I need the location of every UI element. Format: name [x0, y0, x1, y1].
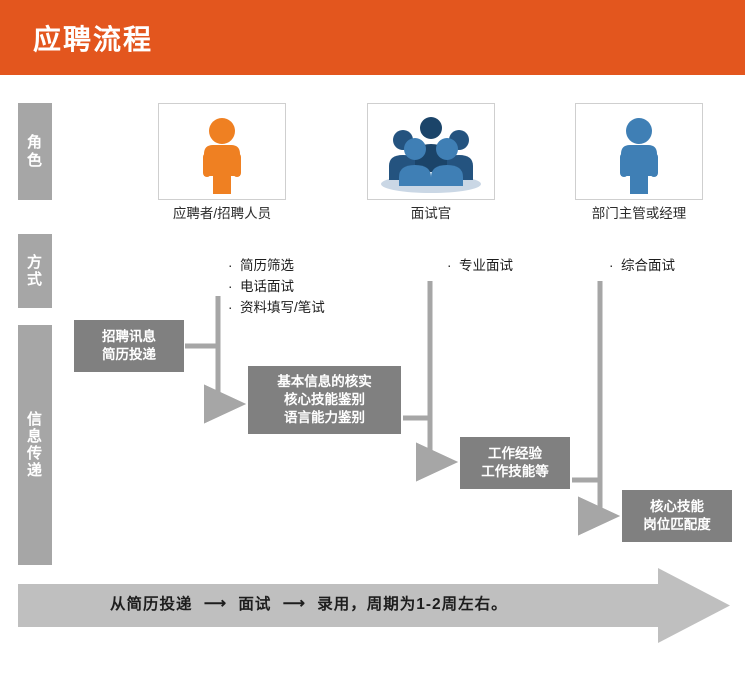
banner-seg-3: 录用，周期为1-2周左右。 [317, 592, 507, 614]
row-label-flow: 信息传递 [18, 325, 52, 565]
process-box-line: 岗位匹配度 [643, 516, 711, 534]
row-label-method: 方式 [18, 234, 52, 308]
role-image-interviewer [367, 103, 495, 200]
single-person-orange-icon [159, 104, 285, 199]
role-caption-manager: 部门主管或经理 [569, 205, 709, 223]
row-label-role-text: 角色 [27, 134, 44, 169]
group-people-blue-icon [368, 104, 494, 199]
list-item-label: 综合面试 [621, 258, 675, 273]
list-item-label: 简历筛选 [240, 258, 294, 273]
arrow-post-to-verify [185, 346, 240, 404]
process-box-line: 基本信息的核实 [277, 373, 372, 391]
role-caption-interviewer: 面试官 [361, 205, 501, 223]
title-bar: 应聘流程 [0, 0, 745, 75]
bullet-dot-icon: · [609, 256, 621, 277]
banner-arrow-icon-2: ⟶ [277, 594, 312, 613]
list-item-label: 电话面试 [240, 279, 294, 294]
summary-arrow-text: 从简历投递 ⟶ 面试 ⟶ 录用，周期为1-2周左右。 [110, 592, 508, 614]
list-item-label: 专业面试 [459, 258, 513, 273]
list-item: ·专业面试 [447, 256, 513, 277]
role-image-applicant [158, 103, 286, 200]
banner-arrow-icon-1: ⟶ [198, 594, 233, 613]
row-label-flow-text: 信息传递 [27, 411, 44, 480]
bullet-dot-icon: · [228, 277, 240, 298]
row-label-role: 角色 [18, 103, 52, 200]
banner-seg-1: 从简历投递 [110, 592, 193, 614]
list-item: ·简历筛选 [228, 256, 325, 277]
banner-seg-2: 面试 [238, 592, 271, 614]
process-box-match: 核心技能 岗位匹配度 [622, 490, 732, 542]
slide-canvas: 应聘流程 角色 方式 信息传递 [0, 0, 745, 674]
process-box-line: 简历投递 [102, 346, 156, 364]
arrow-verify-to-experience [403, 418, 452, 462]
single-person-blue-icon [576, 104, 702, 199]
page-title: 应聘流程 [33, 18, 153, 58]
bullet-dot-icon: · [228, 256, 240, 277]
bullet-dot-icon: · [228, 298, 240, 319]
process-box-experience: 工作经验 工作技能等 [460, 437, 570, 489]
method-list-manager: ·综合面试 [609, 256, 675, 277]
list-item: ·综合面试 [609, 256, 675, 277]
process-box-line: 招聘讯息 [102, 328, 156, 346]
process-box-line: 工作经验 [488, 445, 542, 463]
arrow-interviewer-to-experience [430, 281, 452, 462]
list-item: ·资料填写/笔试 [228, 298, 325, 319]
method-list-applicant: ·简历筛选 ·电话面试 ·资料填写/笔试 [228, 256, 325, 319]
role-caption-applicant: 应聘者/招聘人员 [152, 205, 292, 223]
process-box-line: 工作技能等 [481, 463, 549, 481]
bullet-dot-icon: · [447, 256, 459, 277]
process-box-line: 核心技能 [650, 498, 704, 516]
process-box-line: 语言能力鉴别 [284, 409, 365, 427]
role-image-manager [575, 103, 703, 200]
row-label-method-text: 方式 [27, 254, 44, 289]
list-item-label: 资料填写/笔试 [240, 300, 325, 315]
process-box-line: 核心技能鉴别 [284, 391, 365, 409]
process-box-verify: 基本信息的核实 核心技能鉴别 语言能力鉴别 [248, 366, 401, 434]
method-list-interviewer: ·专业面试 [447, 256, 513, 277]
list-item: ·电话面试 [228, 277, 325, 298]
arrow-experience-to-match [572, 480, 614, 516]
arrow-manager-to-match [600, 281, 614, 516]
process-box-post: 招聘讯息 简历投递 [74, 320, 184, 372]
